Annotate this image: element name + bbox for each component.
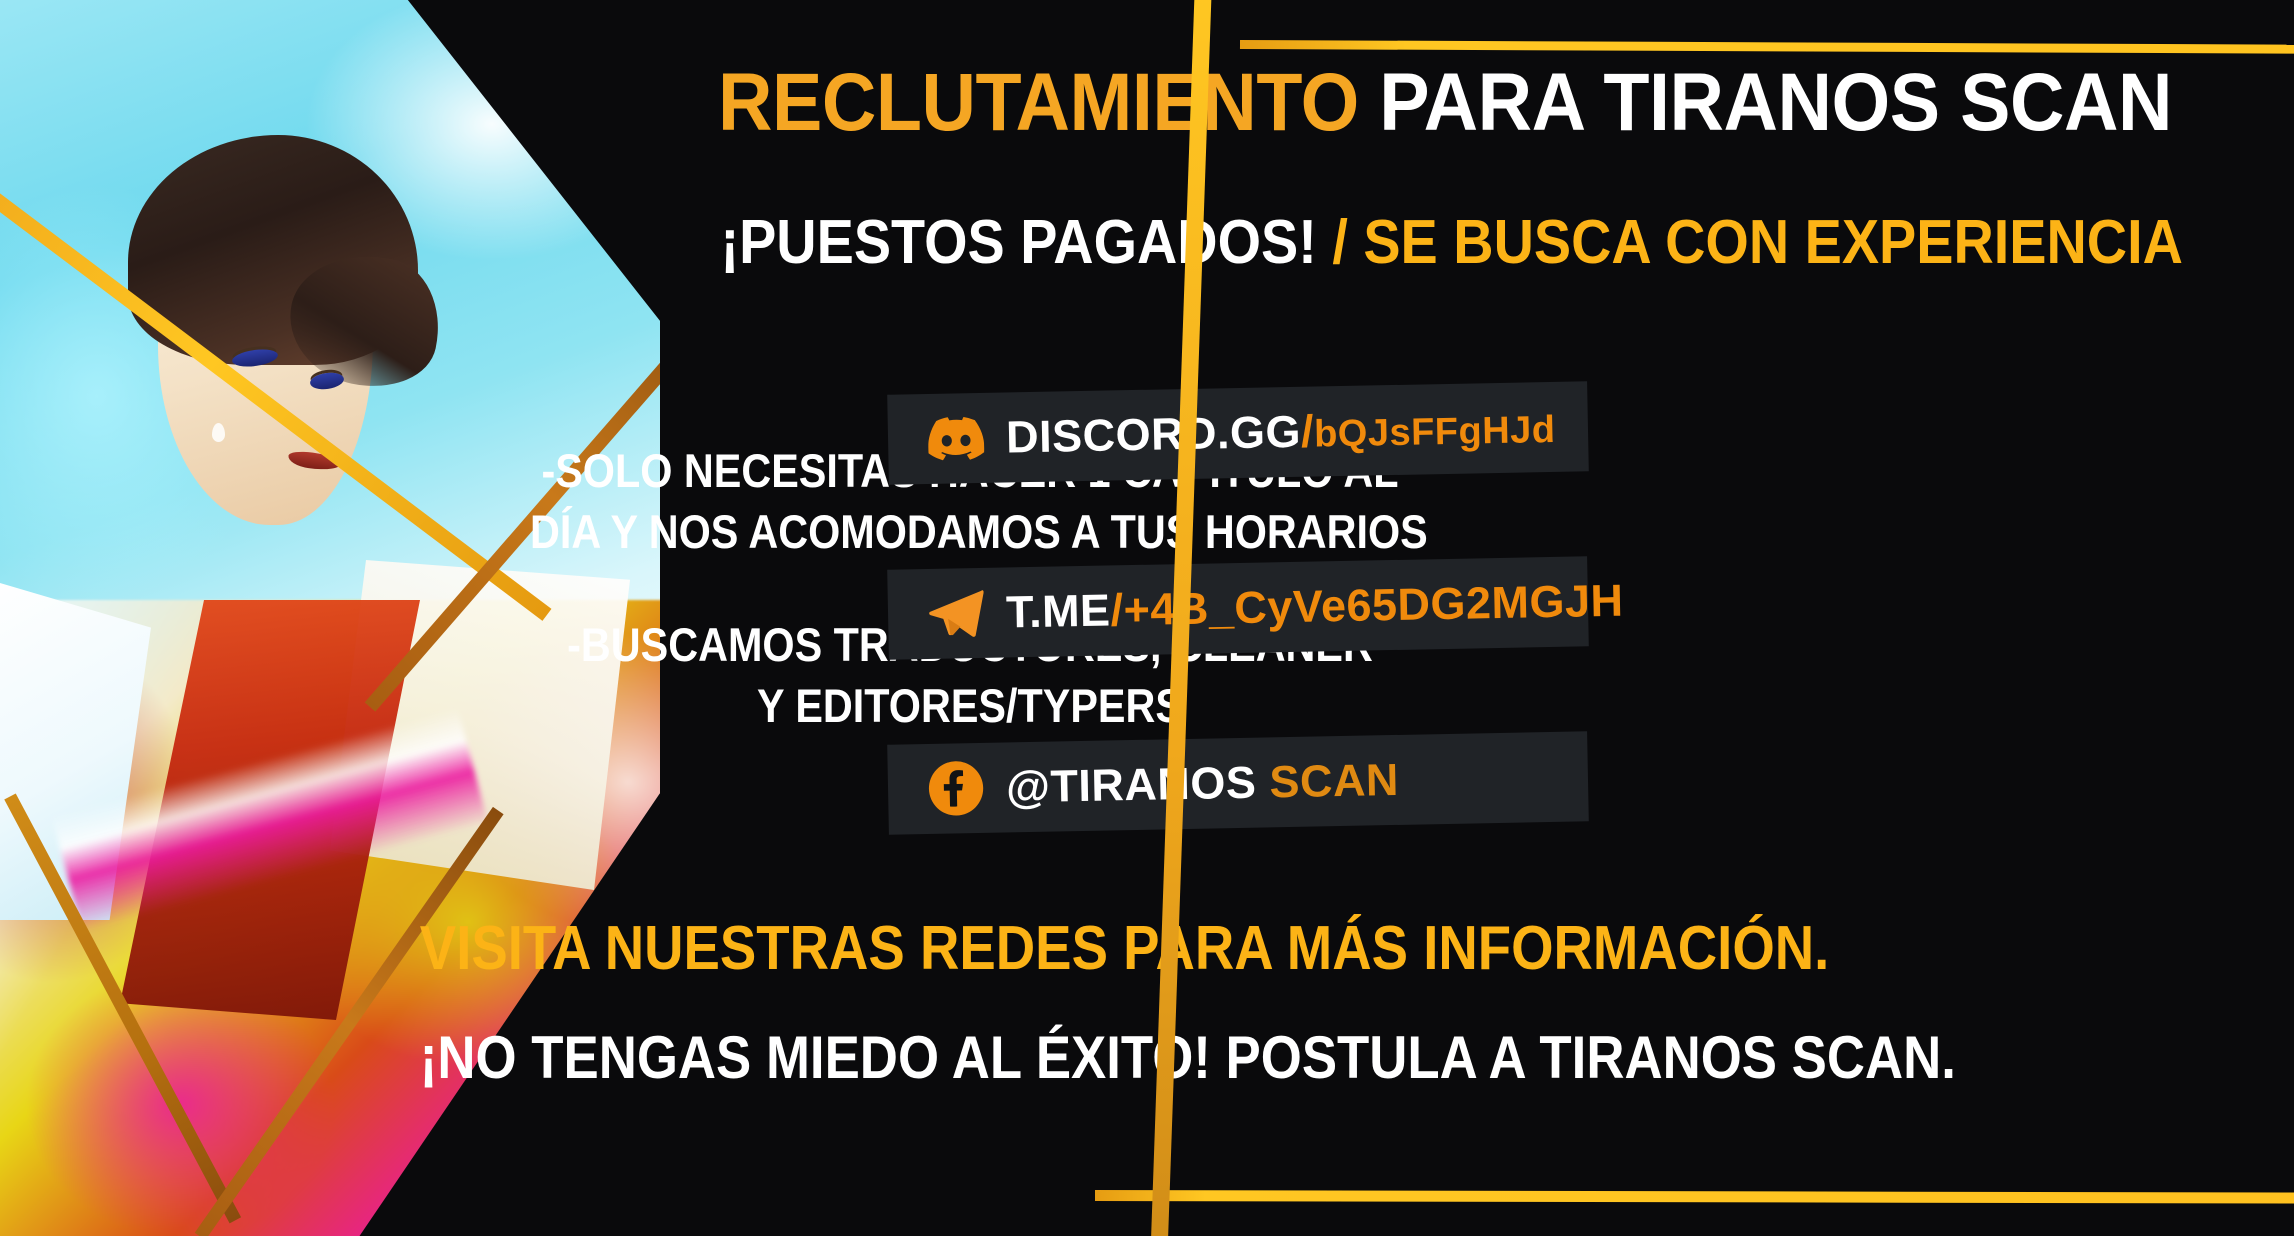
artwork-sweat-drop [212, 423, 225, 442]
contact-cards: DISCORD.GG/bQJsFFgHJd T.ME/+4B_CyVe65DG2… [888, 388, 1588, 828]
subtitle: ¡PUESTOS PAGADOS! / SE BUSCA CON EXPERIE… [721, 212, 2170, 274]
discord-separator: / [1301, 406, 1315, 457]
telegram-prefix: T.ME [1006, 584, 1111, 637]
cta-line-2: ¡NO TENGAS MIEDO AL ÉXITO! POSTULA A TIR… [420, 1028, 1590, 1088]
facebook-card-text: @TIRANOS SCAN [1006, 754, 1400, 814]
discord-icon [928, 410, 985, 467]
facebook-icon [928, 760, 985, 817]
subtitle-orange-part: / SE BUSCA CON EXPERIENCIA [1332, 208, 2183, 277]
page-title: RECLUTAMIENTO PARA TIRANOS SCAN [704, 62, 2185, 144]
title-white-part: PARA TIRANOS SCAN [1379, 57, 2172, 148]
gold-rule-bottom [1095, 1190, 2294, 1205]
artwork-character-head [120, 135, 450, 555]
facebook-contact-card[interactable]: @TIRANOS SCAN [887, 731, 1589, 834]
call-to-action: VISITA NUESTRAS REDES PARA MÁS INFORMACI… [420, 918, 1590, 1088]
discord-invite-code: bQJsFFgHJd [1314, 409, 1556, 456]
recruitment-banner: RECLUTAMIENTO PARA TIRANOS SCAN ¡PUESTOS… [0, 0, 2294, 1236]
facebook-handle-suffix: SCAN [1269, 754, 1399, 807]
title-orange-part: RECLUTAMIENTO [718, 57, 1359, 148]
discord-card-text: DISCORD.GG/bQJsFFgHJd [1006, 401, 1556, 464]
facebook-handle-prefix: @TIRANOS [1006, 757, 1257, 813]
gold-rule-top [1240, 40, 2294, 56]
telegram-invite-code: +4B_CyVe65DG2MGJH [1123, 575, 1624, 636]
subtitle-white-part: ¡PUESTOS PAGADOS! [721, 208, 1317, 277]
discord-contact-card[interactable]: DISCORD.GG/bQJsFFgHJd [887, 381, 1589, 484]
telegram-contact-card[interactable]: T.ME/+4B_CyVe65DG2MGJH [887, 556, 1589, 659]
telegram-icon [928, 585, 985, 642]
telegram-separator: / [1110, 584, 1124, 635]
cta-line-1: VISITA NUESTRAS REDES PARA MÁS INFORMACI… [420, 918, 1590, 980]
telegram-card-text: T.ME/+4B_CyVe65DG2MGJH [1006, 575, 1624, 639]
discord-prefix: DISCORD.GG [1006, 406, 1302, 463]
